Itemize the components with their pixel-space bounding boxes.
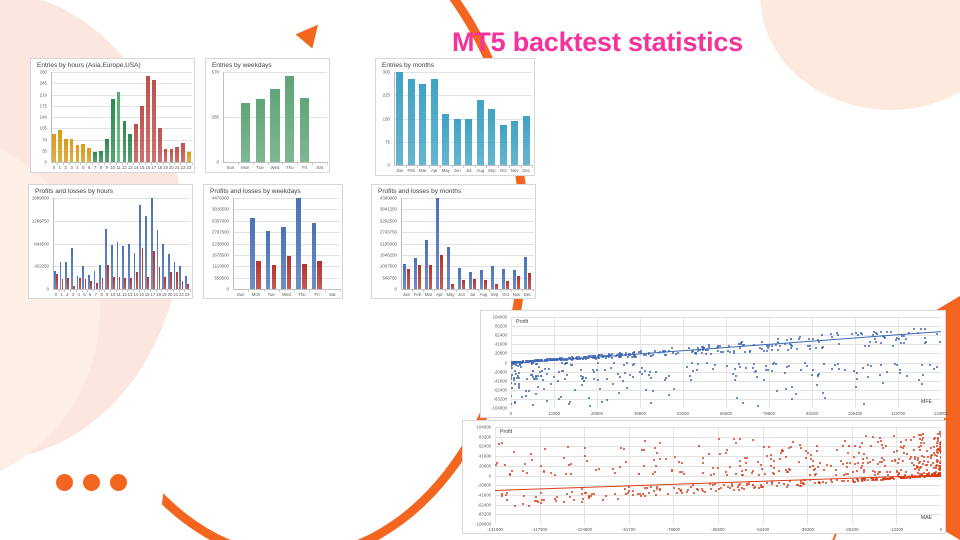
x-tick-mark (192, 162, 193, 165)
gridline (233, 209, 340, 210)
data-point (584, 455, 586, 457)
x-axis-tick-label: 106400 (839, 411, 871, 416)
bar (425, 240, 428, 289)
x-axis-tick-label: Mon (248, 292, 263, 297)
data-point (532, 404, 534, 406)
x-axis-tick-label: Apr (429, 168, 441, 173)
y-axis-tick-label: 245 (29, 81, 47, 86)
bar (469, 272, 472, 289)
data-point (918, 434, 920, 436)
data-point (537, 386, 539, 388)
x-axis-tick-label: Feb (406, 168, 418, 173)
data-point (708, 453, 710, 455)
bar (102, 278, 104, 289)
x-axis-tick-label: -117900 (524, 527, 556, 532)
gridline-vertical (852, 427, 853, 524)
data-point (867, 364, 869, 366)
data-point (673, 487, 675, 489)
x-tick-mark (86, 162, 87, 165)
data-point (511, 470, 513, 472)
bar (119, 277, 121, 289)
x-tick-mark (412, 289, 413, 292)
data-point (526, 472, 528, 474)
chart-title: Profits and losses by months (378, 188, 461, 195)
data-point (869, 341, 871, 343)
data-point (768, 345, 770, 347)
bar (107, 265, 109, 289)
x-axis-tick-label: Mar (417, 168, 429, 173)
data-point (913, 436, 915, 438)
y-axis-tick-label: 105 (29, 126, 47, 131)
y-axis-tick-label: 104000 (461, 425, 491, 430)
y-axis-tick-label: 285 (204, 115, 219, 120)
data-point (531, 459, 533, 461)
data-point (766, 350, 768, 352)
bar (164, 277, 166, 289)
bar (58, 130, 62, 162)
data-point (880, 331, 882, 333)
bar (513, 270, 516, 289)
data-point (737, 486, 739, 488)
data-point (846, 462, 848, 464)
data-point (776, 390, 778, 392)
data-point (691, 362, 693, 364)
data-point (791, 386, 793, 388)
data-point (627, 356, 629, 358)
data-point (650, 377, 652, 379)
data-point (885, 445, 887, 447)
data-point (582, 498, 584, 500)
data-point (588, 397, 590, 399)
data-point (546, 373, 548, 375)
data-point (857, 462, 859, 464)
data-point (882, 382, 884, 384)
data-point (883, 459, 885, 461)
data-point (889, 471, 891, 473)
data-point (638, 473, 640, 475)
data-point (746, 457, 748, 459)
y-axis-tick-label: -20800 (461, 483, 491, 488)
gridline (53, 221, 190, 222)
x-axis-tick-label: Oct (498, 168, 510, 173)
y-axis-tick-label: 75 (374, 139, 390, 144)
bar (462, 280, 465, 289)
y-axis-tick-label: -62400 (461, 502, 491, 507)
data-point (925, 341, 927, 343)
data-point (859, 446, 861, 448)
data-point (855, 386, 857, 388)
gridline-vertical (629, 427, 630, 524)
bar (130, 278, 132, 289)
data-point (893, 435, 895, 437)
gridline-vertical (812, 317, 813, 408)
data-point (619, 466, 621, 468)
data-point (754, 486, 756, 488)
x-tick-mark (80, 162, 81, 165)
data-point (870, 365, 872, 367)
data-point (761, 348, 763, 350)
y-axis-tick-label: 2797500 (201, 230, 229, 235)
data-point (588, 496, 590, 498)
x-axis-tick-label: Apr (434, 292, 445, 297)
x-axis-tick-label: Dec (521, 168, 533, 173)
data-point (604, 369, 606, 371)
data-point (738, 363, 740, 365)
x-axis-tick-label: -13100 (880, 527, 912, 532)
data-point (787, 471, 789, 473)
data-point (929, 364, 931, 366)
data-point (518, 383, 520, 385)
x-axis-tick-label: 133000 (925, 411, 957, 416)
y-axis-tick-label: -41600 (479, 378, 507, 383)
bar (408, 79, 415, 165)
bar (458, 268, 461, 289)
bar (312, 223, 317, 289)
x-tick-mark (69, 162, 70, 165)
bar (440, 255, 443, 289)
data-point (518, 387, 520, 389)
data-point (831, 368, 833, 370)
data-point (940, 456, 941, 458)
gridline-vertical (726, 317, 727, 408)
data-point (814, 482, 816, 484)
bar (181, 143, 185, 162)
data-point (763, 350, 765, 352)
gridline (401, 244, 533, 245)
plot-area (51, 72, 192, 162)
data-point (860, 467, 862, 469)
x-tick-mark (467, 289, 468, 292)
data-point (937, 440, 939, 442)
data-point (659, 442, 661, 444)
data-point (676, 492, 678, 494)
data-point (816, 445, 818, 447)
data-point (877, 473, 879, 475)
y-axis-tick-label: 35 (29, 148, 47, 153)
data-point (701, 352, 703, 354)
data-point (573, 499, 575, 501)
data-point (569, 401, 571, 403)
x-tick-mark (127, 289, 128, 292)
data-point (514, 402, 516, 404)
bar (491, 266, 494, 289)
gridline (394, 72, 532, 73)
data-point (511, 395, 512, 397)
y-axis-tick-label: 1119000 (201, 264, 229, 269)
data-point (715, 490, 717, 492)
bar (170, 272, 172, 289)
data-point (790, 338, 792, 340)
x-tick-mark (429, 165, 430, 168)
x-axis-tick-label: Thu (294, 292, 309, 297)
data-point (848, 445, 850, 447)
bar (506, 281, 509, 289)
x-tick-mark (184, 289, 185, 292)
x-axis-tick-label: Oct (500, 292, 511, 297)
data-point (523, 495, 525, 497)
bar (484, 280, 487, 289)
data-point (863, 403, 865, 405)
gridline (53, 244, 190, 245)
bar (87, 148, 91, 162)
data-point (936, 366, 938, 368)
data-point (909, 477, 911, 479)
x-axis-tick-label: Jul (467, 292, 478, 297)
x-tick-mark (139, 289, 140, 292)
x-tick-mark (122, 162, 123, 165)
x-tick-mark (180, 162, 181, 165)
data-point (927, 456, 929, 458)
data-point (558, 398, 560, 400)
data-point (856, 378, 858, 380)
bar (67, 278, 69, 289)
x-tick-mark (139, 162, 140, 165)
data-point (520, 366, 522, 368)
data-point (624, 488, 626, 490)
data-point (632, 376, 634, 378)
data-point (649, 371, 651, 373)
data-point (610, 367, 612, 369)
data-point (726, 365, 728, 367)
chart-title: Entries by weekdays (212, 62, 272, 69)
data-point (583, 380, 585, 382)
data-point (933, 446, 935, 448)
y-axis-tick-label: 70 (29, 137, 47, 142)
bar (523, 116, 530, 165)
x-tick-mark (511, 289, 512, 292)
chart-entries-by-weekdays: Entries by weekdays0285570SunMonTueWedTh… (205, 58, 330, 173)
bar (76, 145, 80, 162)
data-point (702, 462, 704, 464)
bar (71, 248, 73, 289)
x-tick-mark (522, 289, 523, 292)
x-tick-mark (76, 289, 77, 292)
data-point (652, 354, 654, 356)
x-axis-tick-label: Jan (401, 292, 412, 297)
data-point (598, 468, 600, 470)
data-point (695, 353, 697, 355)
data-point (757, 461, 759, 463)
x-axis-tick-label: 0 (495, 411, 527, 416)
data-point (933, 467, 935, 469)
series-label: Profit (515, 319, 529, 325)
data-point (653, 459, 655, 461)
bar (431, 79, 438, 165)
data-point (530, 374, 532, 376)
plot-area (394, 72, 532, 165)
data-point (822, 481, 824, 483)
bar (99, 151, 103, 162)
data-point (706, 362, 708, 364)
x-tick-mark (186, 162, 187, 165)
data-point (764, 473, 766, 475)
data-point (560, 396, 562, 398)
data-point (879, 461, 881, 463)
data-point (753, 363, 755, 365)
data-point (679, 471, 681, 473)
bar (79, 278, 81, 289)
chart-mae-scatter: 104000832006240041600208000-20800-41600-… (462, 420, 946, 534)
data-point (725, 452, 727, 454)
gridline-vertical (683, 317, 684, 408)
x-tick-mark (151, 162, 152, 165)
data-point (897, 462, 899, 464)
y-axis-tick-label: 210 (29, 92, 47, 97)
data-point (899, 372, 901, 374)
dot-group-decor (56, 474, 127, 491)
bar (52, 134, 56, 162)
data-point (917, 459, 919, 461)
x-axis-tick-label: 93100 (796, 411, 828, 416)
data-point (773, 467, 775, 469)
data-point (837, 363, 839, 365)
x-tick-mark (327, 162, 328, 165)
x-axis-tick-label: Sat (312, 165, 327, 170)
y-axis-tick-label: 20800 (461, 463, 491, 468)
data-point (580, 369, 582, 371)
bar (136, 272, 138, 289)
data-point (909, 458, 911, 460)
data-point (879, 374, 881, 376)
y-axis-tick-label: 20800 (479, 351, 507, 356)
data-point (924, 328, 926, 330)
bar (517, 276, 520, 289)
bar (495, 284, 498, 289)
data-point (905, 338, 907, 340)
x-tick-mark (190, 289, 191, 292)
data-point (555, 500, 557, 502)
bar (502, 269, 505, 289)
data-point (692, 370, 694, 372)
data-point (705, 353, 707, 355)
data-point (798, 338, 800, 340)
data-point (639, 493, 641, 495)
y-axis-tick-label: 844500 (26, 241, 49, 246)
data-point (841, 480, 843, 482)
x-tick-mark (174, 162, 175, 165)
data-point (846, 466, 848, 468)
data-point (899, 369, 901, 371)
data-point (916, 465, 918, 467)
chart-profits-losses-by-hours: Profits and losses by hours0422250844500… (28, 184, 193, 299)
data-point (535, 496, 537, 498)
x-axis-tick-label: -39300 (791, 527, 823, 532)
data-point (835, 474, 837, 476)
data-point (539, 371, 541, 373)
data-point (686, 366, 688, 368)
bar (142, 248, 144, 289)
data-point (770, 465, 772, 467)
data-point (644, 370, 646, 372)
x-axis-tick-label: 0 (925, 527, 957, 532)
data-point (812, 465, 814, 467)
data-point (875, 341, 877, 343)
data-point (752, 439, 754, 441)
data-point (765, 365, 767, 367)
data-point (704, 491, 706, 493)
data-point (862, 458, 864, 460)
peach-corner-decor (760, 0, 960, 110)
data-point (513, 451, 515, 453)
bar (300, 98, 309, 162)
y-axis-tick-label: 3841250 (369, 207, 397, 212)
x-axis-tick-label: Dec (522, 292, 533, 297)
data-point (712, 368, 714, 370)
data-point (804, 362, 806, 364)
x-axis-tick-label: -65500 (702, 527, 734, 532)
x-tick-mark (167, 289, 168, 292)
data-point (936, 449, 938, 451)
data-point (540, 492, 542, 494)
data-point (880, 342, 882, 344)
data-point (514, 383, 516, 385)
data-point (617, 498, 619, 500)
x-axis-tick-label: -52400 (747, 527, 779, 532)
data-point (821, 347, 823, 349)
data-point (656, 452, 658, 454)
data-point (725, 471, 727, 473)
x-tick-mark (104, 162, 105, 165)
data-point (664, 379, 666, 381)
x-axis-tick-label: 23 (186, 165, 192, 170)
data-point (671, 469, 673, 471)
x-axis-tick-label: Jun (452, 168, 464, 173)
bar (270, 89, 279, 162)
data-point (619, 376, 621, 378)
x-axis-tick-label: Sep (489, 292, 500, 297)
data-point (548, 368, 550, 370)
data-point (800, 447, 802, 449)
data-point (906, 453, 908, 455)
x-tick-mark (297, 162, 298, 165)
data-point (697, 363, 699, 365)
data-point (788, 365, 790, 367)
data-point (877, 441, 879, 443)
gridline (51, 72, 192, 73)
data-point (542, 379, 544, 381)
x-tick-mark (532, 165, 533, 168)
gridline (53, 198, 190, 199)
data-point (643, 449, 645, 451)
data-point (890, 331, 892, 333)
x-axis-tick-label: 119700 (882, 411, 914, 416)
data-point (550, 472, 552, 474)
y-axis-tick-label: 1689000 (26, 196, 49, 201)
bar (473, 279, 476, 289)
x-tick-mark (144, 289, 145, 292)
bar (70, 139, 74, 162)
gridline-vertical (540, 427, 541, 524)
bar (124, 278, 126, 289)
y-axis-tick-label: -83200 (461, 512, 491, 517)
data-point (836, 449, 838, 451)
y-axis-tick-label: 62400 (479, 333, 507, 338)
gridline (51, 95, 192, 96)
x-axis-tick-label: 26600 (581, 411, 613, 416)
bar (256, 99, 265, 162)
data-point (543, 499, 545, 501)
y-axis-tick-label: 2238000 (201, 241, 229, 246)
data-point (880, 364, 882, 366)
gridline-vertical (807, 427, 808, 524)
data-point (681, 462, 683, 464)
y-axis-tick-label: 175 (29, 103, 47, 108)
data-point (602, 499, 604, 501)
data-point (544, 368, 546, 370)
x-tick-mark (156, 289, 157, 292)
gridline (233, 244, 340, 245)
data-point (779, 458, 781, 460)
